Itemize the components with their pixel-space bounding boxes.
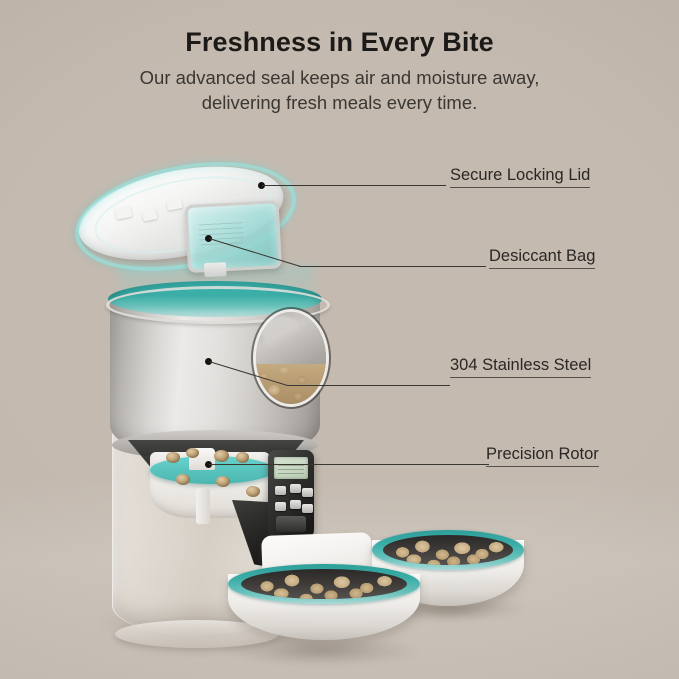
window-glass-highlight (262, 316, 302, 350)
callout-label: Precision Rotor (486, 445, 599, 467)
kibble-piece (186, 448, 199, 458)
bowl-kibble (241, 571, 406, 599)
bowl-interior (241, 569, 406, 599)
callout-label: Secure Locking Lid (450, 166, 590, 188)
callout-leader-desiccant-bag (299, 266, 486, 267)
rotor-drop-tube (196, 488, 210, 524)
panel-button[interactable] (275, 502, 286, 511)
kibble-piece (214, 450, 229, 462)
bowl-interior (383, 535, 514, 565)
panel-base (276, 516, 306, 532)
callout-leader-secure-locking-lid (262, 185, 446, 186)
callout-stainless-steel: 304 Stainless Steel (450, 356, 591, 375)
bowl-kibble (383, 537, 514, 565)
desiccant-clip (204, 262, 227, 277)
callout-secure-locking-lid: Secure Locking Lid (450, 166, 590, 185)
panel-button[interactable] (290, 500, 301, 509)
callout-desiccant-bag: Desiccant Bag (489, 247, 595, 266)
kibble-piece (176, 474, 190, 485)
callout-label: 304 Stainless Steel (450, 356, 591, 378)
infographic-canvas: Freshness in Every Bite Our advanced sea… (0, 0, 679, 679)
callout-leader-stainless-steel (287, 385, 450, 386)
panel-button[interactable] (302, 504, 313, 513)
panel-button[interactable] (290, 484, 301, 493)
kibble-piece (216, 476, 230, 487)
kibble-piece (246, 486, 260, 497)
lcd-display (274, 457, 308, 479)
window-kibble (256, 364, 326, 404)
callout-precision-rotor: Precision Rotor (486, 445, 599, 464)
callout-leader-precision-rotor (209, 464, 489, 465)
callout-label: Desiccant Bag (489, 247, 595, 269)
panel-button[interactable] (302, 488, 313, 497)
kibble-piece (236, 452, 249, 463)
panel-button[interactable] (275, 486, 286, 495)
desiccant-bag (185, 200, 282, 273)
product-illustration (0, 0, 679, 679)
kibble-piece (166, 452, 180, 463)
front-food-bowl (228, 564, 420, 652)
